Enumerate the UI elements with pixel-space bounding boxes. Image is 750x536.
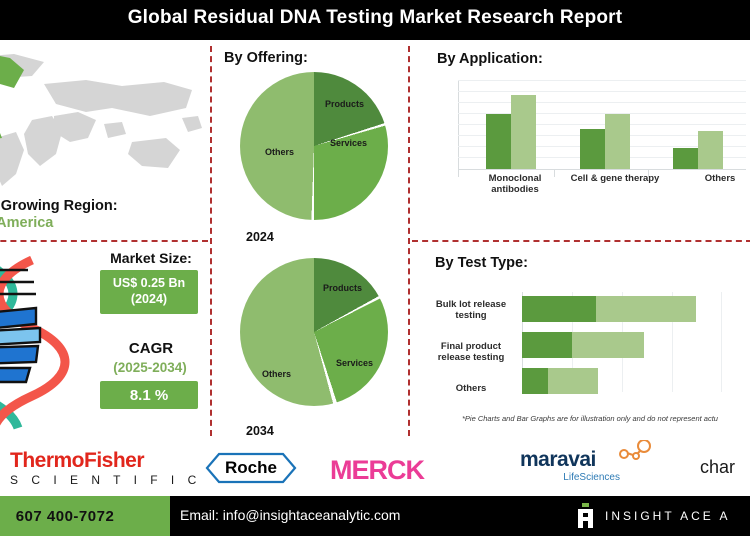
logo-charles-river: char xyxy=(700,457,735,478)
hbar-bulk-lot-2024 xyxy=(522,296,596,322)
category-text: Final product release testing xyxy=(438,341,505,363)
footer-brand-text: INSIGHT ACE A xyxy=(605,509,730,523)
pie-2024-year: 2024 xyxy=(246,230,274,244)
hbar-bulk-lot-2034 xyxy=(596,296,696,322)
fastest-growing-region-value: North America xyxy=(0,215,53,231)
category-text: Cell & gene therapy xyxy=(571,173,660,184)
category-text: Others xyxy=(705,173,736,184)
divider-vertical-right xyxy=(408,46,410,436)
pie-2024-label-products: Products xyxy=(325,99,364,109)
world-map-icon xyxy=(0,46,206,196)
bar-monoclonal-2034 xyxy=(511,95,536,169)
divider-horizontal-left xyxy=(0,240,208,242)
grid-line xyxy=(458,80,746,81)
pie-chart-2034 xyxy=(240,258,388,406)
hbar-others xyxy=(522,368,598,394)
hbar-final-product-2034 xyxy=(572,332,644,358)
cagr-value: 8.1 % xyxy=(130,387,168,404)
logo-maravai-subtext: LifeSciences xyxy=(520,472,620,483)
company-logos-strip: ThermoFisher S C I E N T I F I C Roche M… xyxy=(0,440,750,495)
bar-cell-gene-2034 xyxy=(605,114,630,169)
by-application-title: By Application: xyxy=(437,51,543,67)
by-offering-title: By Offering: xyxy=(224,50,308,66)
hbar-bulk-lot xyxy=(522,296,696,322)
cagr-label: CAGR xyxy=(96,340,206,357)
header-bar: Global Residual DNA Testing Market Resea… xyxy=(0,0,750,40)
footer-phone: 607 400-7072 xyxy=(16,508,115,525)
bar-group-others xyxy=(673,131,723,169)
bar-monoclonal-2024 xyxy=(486,114,511,169)
hbar-final-product xyxy=(522,332,644,358)
category-text: Bulk lot release testing xyxy=(436,299,506,321)
cagr-years: (2025-2034) xyxy=(90,360,210,375)
by-test-type-title: By Test Type: xyxy=(435,255,528,271)
bar-others-2024 xyxy=(673,148,698,169)
fastest-growing-region-label: Fastest Growing Region: xyxy=(0,198,118,214)
market-size-year: (2024) xyxy=(131,292,167,308)
hbar-others-2024 xyxy=(522,368,548,394)
logo-thermo-fisher: ThermoFisher S C I E N T I F I C xyxy=(10,449,201,487)
pie-2034-label-others: Others xyxy=(262,369,291,379)
dna-helix-icon xyxy=(0,256,82,431)
pie-2034-label-services: Services xyxy=(336,358,373,368)
logo-roche: Roche xyxy=(205,452,297,484)
pie-2034-year: 2034 xyxy=(246,424,274,438)
page-title: Global Residual DNA Testing Market Resea… xyxy=(0,7,750,29)
test-type-label-final-product: Final product release testing xyxy=(425,341,517,364)
divider-horizontal-right xyxy=(412,240,750,242)
footer-email[interactable]: Email: info@insightaceanalytic.com xyxy=(180,507,400,523)
cagr-badge: 8.1 % xyxy=(100,381,198,409)
application-category-label-monoclonal: Monoclonal antibodies xyxy=(470,174,560,196)
test-type-label-others: Others xyxy=(425,383,517,394)
bar-others-2034 xyxy=(698,131,723,169)
pie-2034-label-products: Products xyxy=(323,283,362,293)
hbar-final-product-2024 xyxy=(522,332,572,358)
market-size-badge: US$ 0.25 Bn (2024) xyxy=(100,270,198,314)
logo-merck: MERCK xyxy=(330,455,424,486)
chart-disclaimer-note: *Pie Charts and Bar Graphs are for illus… xyxy=(462,414,750,423)
axis-tick xyxy=(458,169,459,177)
application-category-label-others: Others xyxy=(690,174,750,185)
insight-ace-a-mark-icon xyxy=(575,503,596,528)
test-type-label-bulk-lot: Bulk lot release testing xyxy=(425,299,517,322)
chart-axis-bottom xyxy=(458,169,746,170)
bar-group-cell-gene xyxy=(580,114,630,169)
logo-maravai-text: maravai xyxy=(520,448,620,472)
logo-thermo-fisher-line2: S C I E N T I F I C xyxy=(10,473,201,487)
maravai-molecule-icon xyxy=(612,440,656,460)
category-text: Others xyxy=(456,383,487,394)
pie-2024-label-others: Others xyxy=(265,147,294,157)
grid-line xyxy=(458,91,746,92)
pie-2024-label-services: Services xyxy=(330,138,367,148)
footer-brand-logo: INSIGHT ACE A xyxy=(575,503,730,528)
market-size-label: Market Size: xyxy=(96,250,206,266)
infographic-page: Global Residual DNA Testing Market Resea… xyxy=(0,0,750,536)
application-category-label-cell-gene: Cell & gene therapy xyxy=(560,174,670,185)
application-bar-chart xyxy=(458,80,746,170)
bar-group-monoclonal xyxy=(486,95,536,169)
test-type-bar-chart xyxy=(522,292,722,392)
logo-thermo-fisher-line1: ThermoFisher xyxy=(10,449,201,473)
footer-bar: 607 400-7072 Email: info@insightaceanaly… xyxy=(0,496,750,536)
bar-cell-gene-2024 xyxy=(580,129,605,169)
divider-vertical-left xyxy=(210,46,212,436)
hbar-others-2034 xyxy=(548,368,598,394)
category-text: Monoclonal antibodies xyxy=(489,173,542,195)
market-size-value: US$ 0.25 Bn xyxy=(113,276,185,292)
grid-line xyxy=(721,292,722,392)
footer-phone-badge: 607 400-7072 xyxy=(0,496,170,536)
logo-roche-text: Roche xyxy=(205,458,297,478)
logo-maravai: maravai LifeSciences xyxy=(520,448,620,483)
